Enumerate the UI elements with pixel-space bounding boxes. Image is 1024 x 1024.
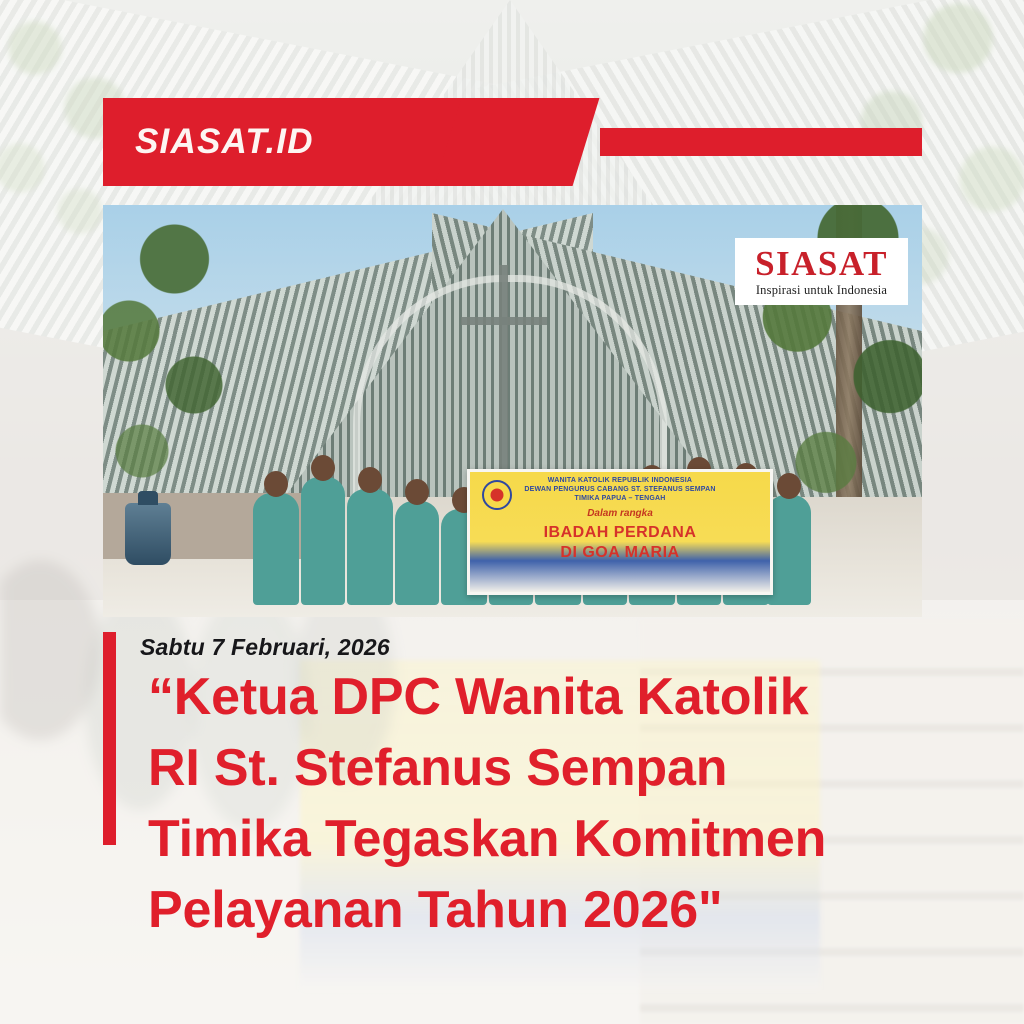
photo-water-jug — [125, 503, 171, 565]
photo-person — [347, 489, 393, 605]
photo-crowd: WANITA KATOLIK REPUBLIK INDONESIA DEWAN … — [253, 405, 813, 605]
banner-line-1: WANITA KATOLIK REPUBLIK INDONESIA — [470, 477, 770, 484]
banner-line-2: DEWAN PENGURUS CABANG ST. STEFANUS SEMPA… — [470, 486, 770, 493]
logo-tagline: Inspirasi untuk Indonesia — [756, 283, 887, 298]
article-date: Sabtu 7 Februari, 2026 — [140, 634, 390, 661]
logo-wordmark: SIASAT — [755, 246, 888, 281]
article-headline: “Ketua DPC Wanita Katolik RI St. Stefanu… — [148, 662, 948, 946]
photo-person — [767, 495, 811, 605]
header-band: SIASAT.ID — [0, 98, 1024, 186]
banner-subtitle: Dalam rangka — [470, 508, 770, 519]
banner-headline-1: IBADAH PERDANA — [470, 524, 770, 542]
photo-person — [395, 501, 439, 605]
banner-headline-2: DI GOA MARIA — [470, 544, 770, 562]
header-red-rule — [600, 128, 922, 156]
siasat-logo: SIASAT Inspirasi untuk Indonesia — [735, 238, 908, 305]
banner-line-3: TIMIKA PAPUA – TENGAH — [470, 495, 770, 502]
headline-accent-bar — [103, 632, 116, 845]
headline-line-3: Timika Tegaskan Komitmen — [148, 804, 948, 875]
news-poster: SIASAT.ID WANIT — [0, 0, 1024, 1024]
headline-line-4: Pelayanan Tahun 2026" — [148, 875, 948, 946]
photo-person — [301, 477, 345, 605]
photo-event-banner: WANITA KATOLIK REPUBLIK INDONESIA DEWAN … — [467, 469, 773, 595]
photo-person — [253, 493, 299, 605]
photo-trees-left — [103, 205, 233, 505]
headline-line-1: “Ketua DPC Wanita Katolik — [148, 662, 948, 733]
site-brand-title: SIASAT.ID — [135, 98, 314, 186]
headline-line-2: RI St. Stefanus Sempan — [148, 733, 948, 804]
